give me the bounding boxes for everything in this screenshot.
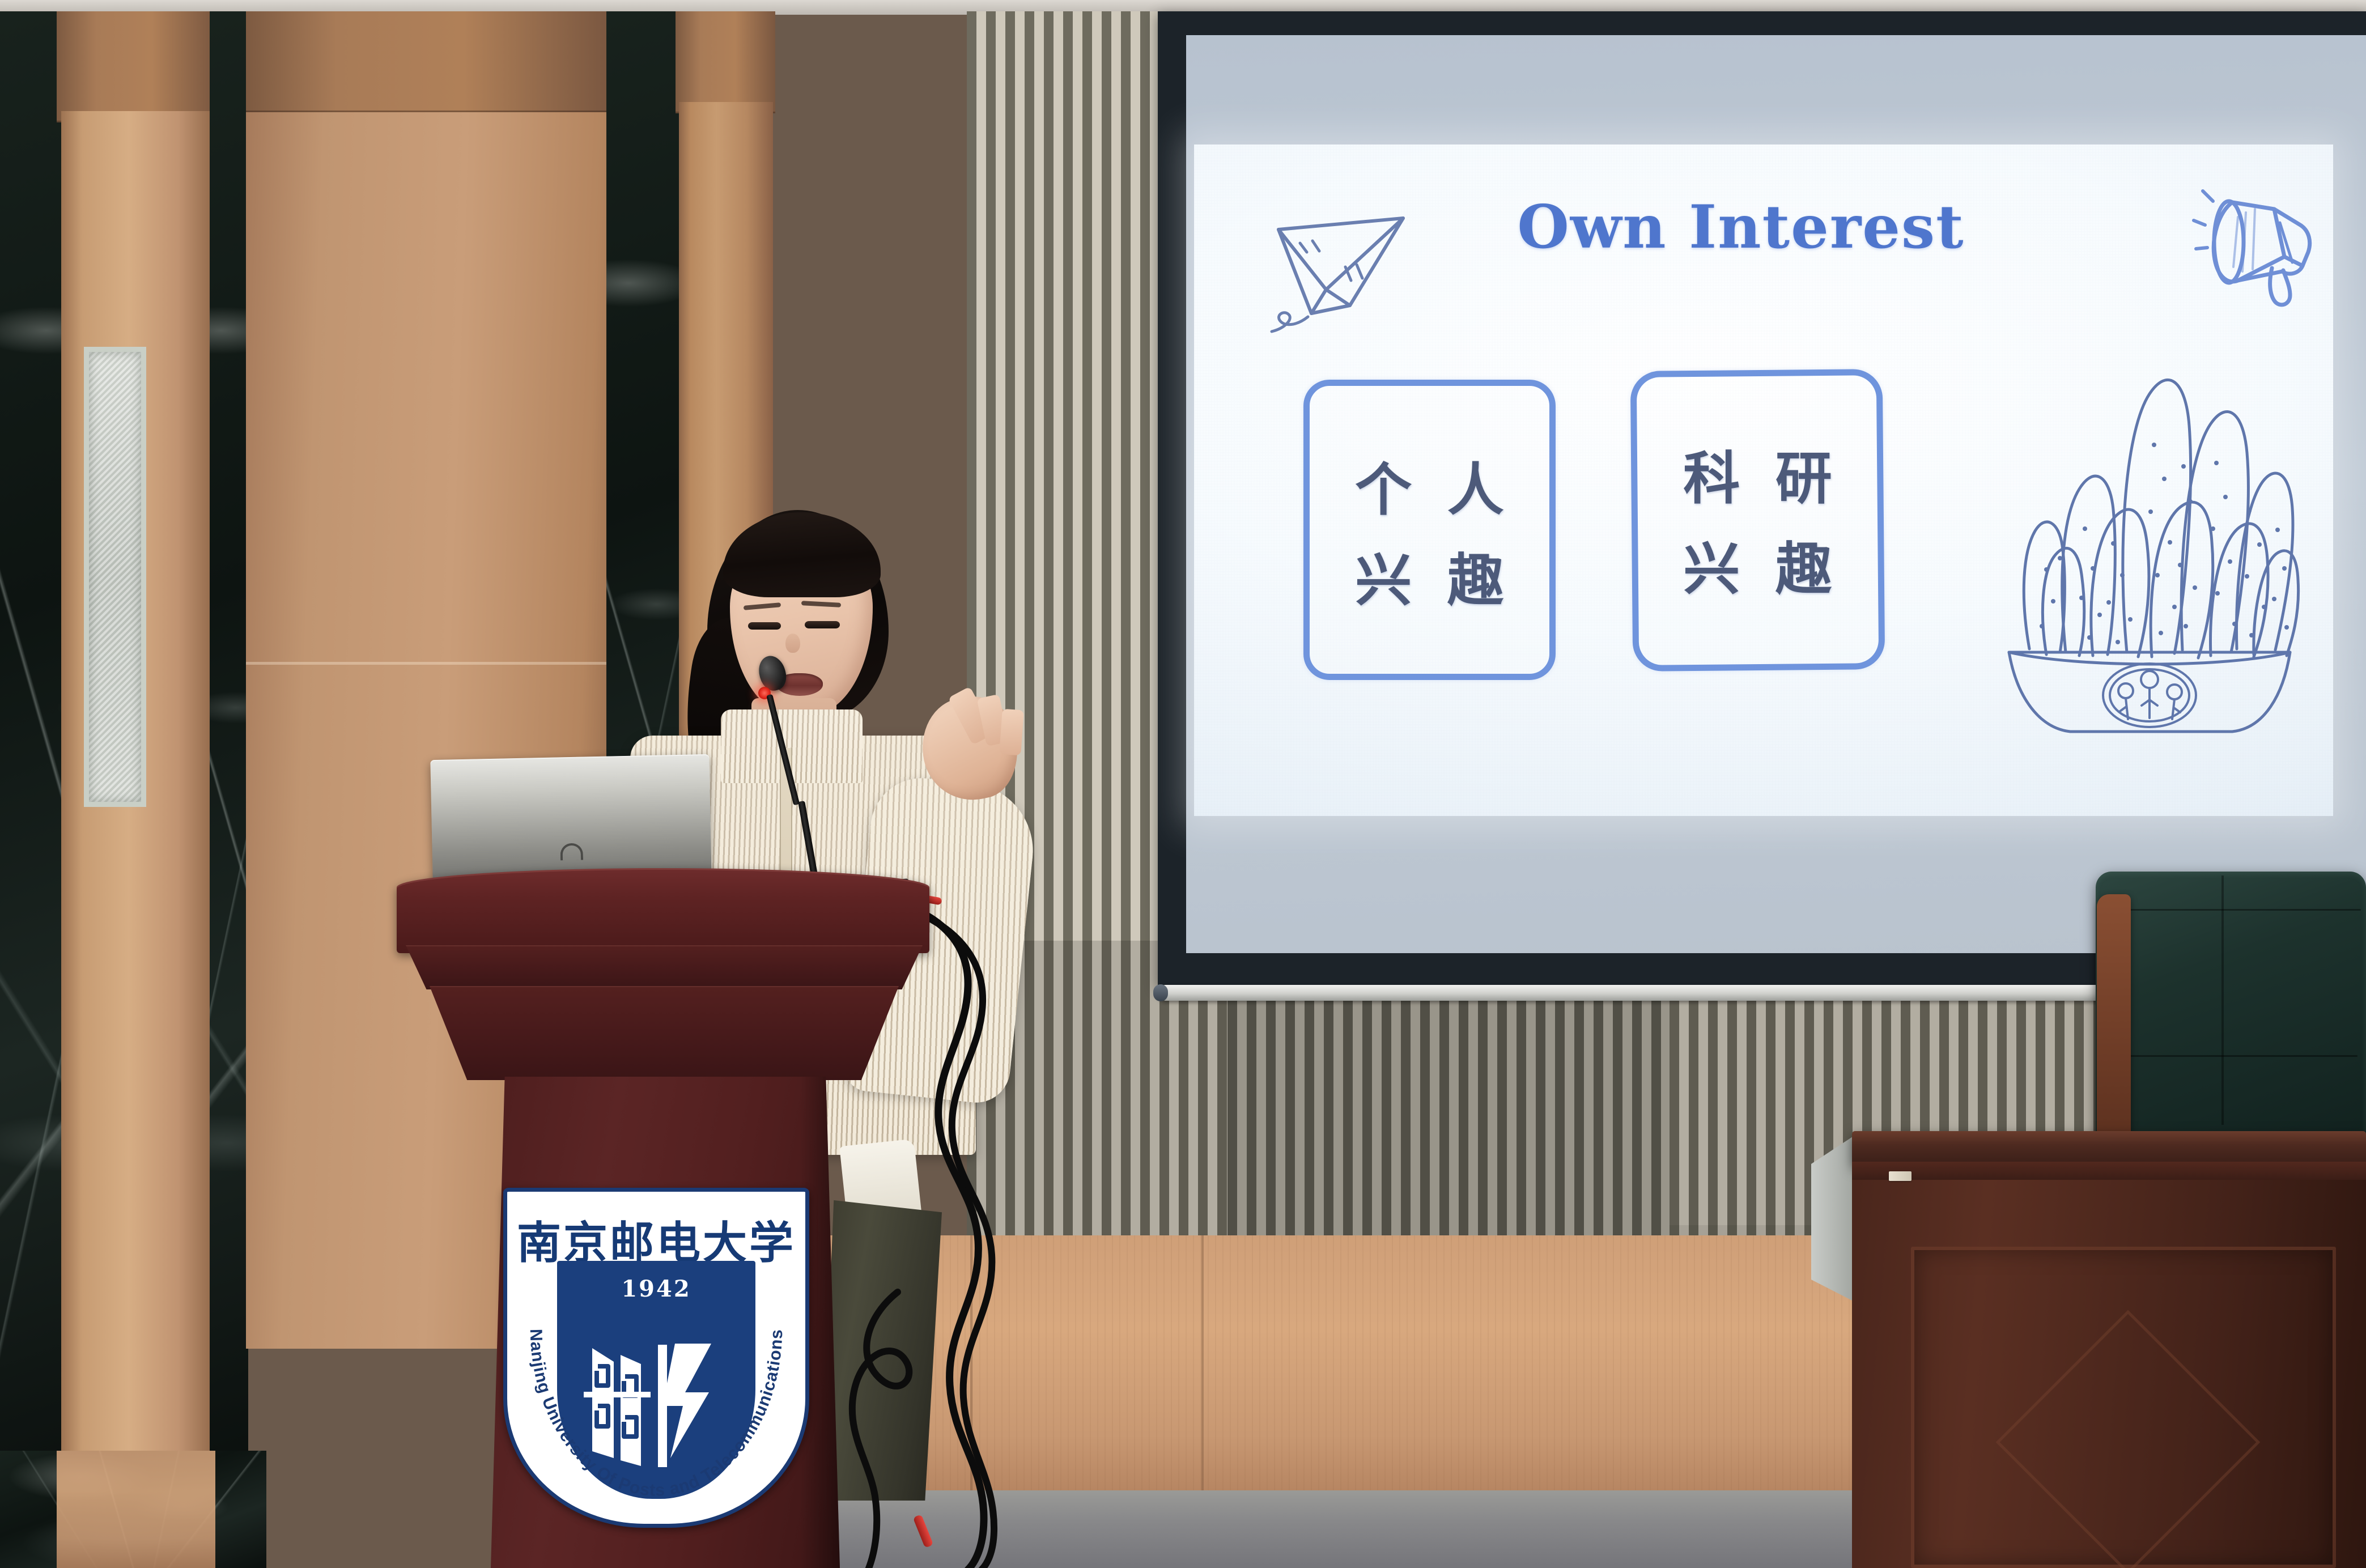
cn-char: 趣 (1775, 523, 1832, 605)
pilaster-cap-2 (57, 11, 215, 122)
marble-wall-mid (210, 11, 248, 1462)
megaphone-icon (2189, 173, 2334, 315)
cn-char: 研 (1775, 432, 1832, 515)
nose (785, 634, 800, 653)
lecture-hall-photo: Own Interest (0, 0, 2366, 1568)
cn-char: 兴 (1683, 523, 1740, 605)
podium-molding-lower (430, 986, 899, 1080)
eye-right (805, 621, 840, 628)
chair-back-divider (2221, 876, 2224, 1125)
wainscot-seam-2 (1201, 1235, 1204, 1502)
striped-acoustic-panel-right-a (1227, 987, 1670, 1263)
potted-cactus-illustration (1987, 332, 2305, 740)
cn-char: 趣 (1447, 534, 1504, 617)
desk-sticker (1889, 1171, 1912, 1181)
audio-cable-loop (843, 1292, 968, 1568)
pilaster-cap-3 (676, 11, 775, 113)
eye-left (748, 622, 781, 630)
leather-chair[interactable] (2096, 872, 2366, 1149)
cn-char: 兴 (1355, 534, 1412, 617)
chair-armrest (2097, 894, 2131, 1139)
university-crest: 南京邮电大学 1942 Nanjing Unive (503, 1188, 809, 1528)
svg-text:Nanjing University Of Posts an: Nanjing University Of Posts and Telecomm… (526, 1329, 786, 1500)
laptop-logo (560, 843, 583, 861)
research-interest-chars: 科 研 兴 趣 (1666, 428, 1850, 609)
wood-wall-seam (246, 662, 609, 665)
hairline (723, 512, 881, 597)
cn-char: 个 (1355, 444, 1412, 526)
paper-plane-icon (1265, 206, 1418, 339)
personal-interest-chars: 个 人 兴 趣 (1337, 439, 1522, 621)
wood-wainscot-left (57, 1451, 215, 1568)
cn-char: 人 (1447, 444, 1504, 526)
podium-molding-upper (406, 945, 923, 989)
crest-english-name: Nanjing University Of Posts and Telecomm… (507, 1192, 805, 1524)
projection-screen-bar-endcap (1153, 984, 1168, 1001)
desk-top (1852, 1131, 2366, 1165)
desk-edge-molding (1852, 1162, 2366, 1181)
podium-reading-surface (397, 868, 929, 953)
cn-char: 科 (1683, 432, 1740, 515)
wood-wall-cap (246, 11, 609, 112)
chair-seam-mid (2114, 1055, 2357, 1057)
presentation-slide: Own Interest (1194, 145, 2333, 816)
finger (999, 709, 1023, 755)
frosted-glass-panel (84, 347, 146, 807)
chair-seam-top (2105, 909, 2361, 911)
marble-veining-mid (210, 11, 248, 1462)
